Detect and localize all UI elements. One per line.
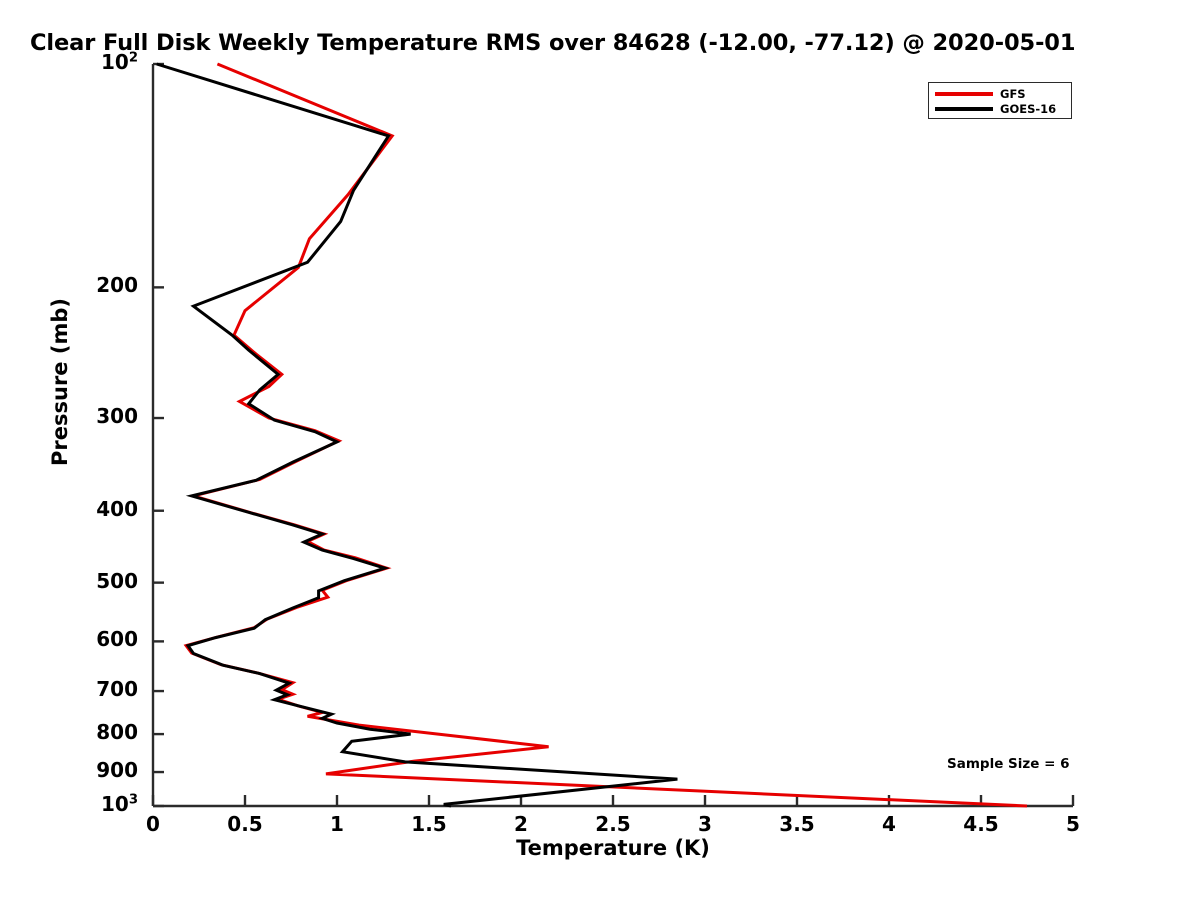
legend-item-gfs[interactable]: GFS xyxy=(935,87,1026,101)
legend-swatch-gfs-icon xyxy=(935,92,993,95)
x-tick-label: 2 xyxy=(514,812,528,836)
x-tick-label: 0.5 xyxy=(227,812,262,836)
x-tick-label: 0 xyxy=(146,812,160,836)
legend[interactable]: GFS GOES-16 xyxy=(928,82,1072,119)
x-tick-label: 1 xyxy=(330,812,344,836)
x-tick-label: 4.5 xyxy=(963,812,998,836)
x-tick-label: 3.5 xyxy=(779,812,814,836)
legend-label-gfs: GFS xyxy=(1000,87,1026,101)
sample-size-annotation: Sample Size = 6 xyxy=(947,756,1070,772)
x-tick-label: 4 xyxy=(882,812,896,836)
y-axis-title: Pressure (mb) xyxy=(48,267,72,497)
legend-label-goes16: GOES-16 xyxy=(1000,102,1056,116)
x-axis-title: Temperature (K) xyxy=(153,836,1073,860)
figure-canvas: Clear Full Disk Weekly Temperature RMS o… xyxy=(0,0,1200,900)
x-tick-label: 1.5 xyxy=(411,812,446,836)
x-tick-label: 2.5 xyxy=(595,812,630,836)
legend-swatch-goes16-icon xyxy=(935,107,993,111)
legend-item-goes16[interactable]: GOES-16 xyxy=(935,102,1056,116)
x-tick-label: 5 xyxy=(1066,812,1080,836)
x-tick-label: 3 xyxy=(698,812,712,836)
